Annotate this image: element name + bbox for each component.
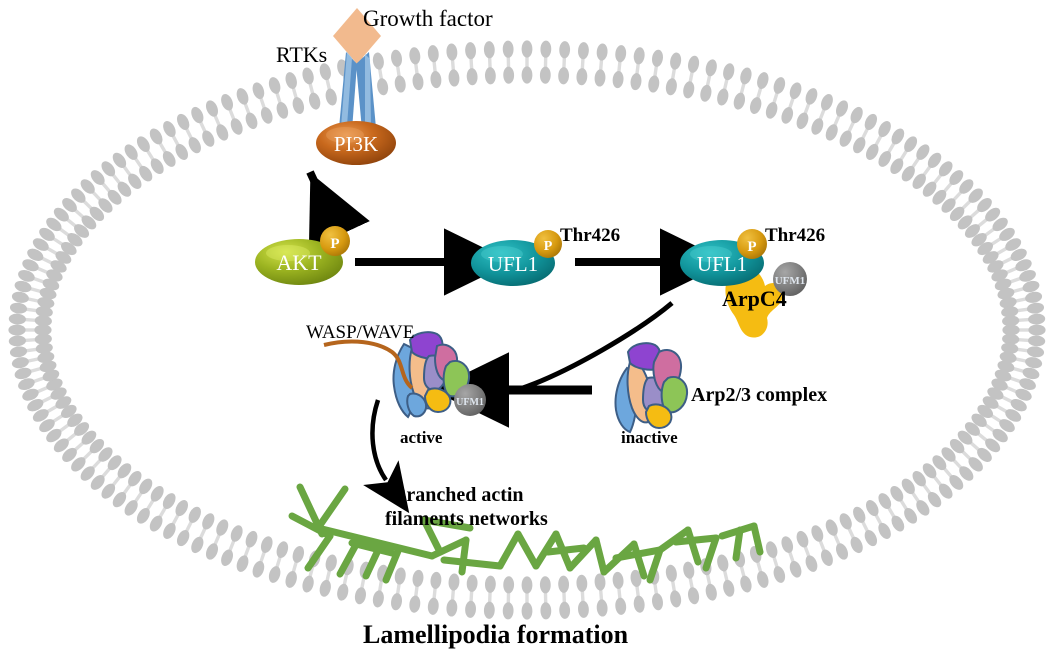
arrow-active-to-actin-network [372,400,386,480]
akt-label: AKT [276,250,322,275]
rtks-label: RTKs [276,43,327,68]
growth-factor-label: Growth factor [363,6,493,32]
ufm1-badge-active: UFM1 [454,384,486,416]
akt-phospho-badge: P [320,226,350,256]
wasp-wave-label: WASP/WAVE [306,322,414,343]
phospho-p-label: P [747,239,756,255]
arpc4-label: ArpC4 [722,287,787,312]
thr426-right-label: Thr426 [765,225,825,246]
active-state-label: active [400,428,442,447]
thr426-left-label: Thr426 [560,225,620,246]
pi3k-label: PI3K [334,132,378,156]
ufl1-left-phospho-badge: P [534,230,562,258]
pi3k-node: PI3K [316,121,396,165]
inactive-state-label: inactive [621,428,678,447]
phospho-p-label: P [544,239,553,254]
arp23-complex-label: Arp2/3 complex [691,384,827,406]
ufl1-right-label: UFL1 [697,252,747,276]
arp23-inactive-complex [615,343,687,432]
branched-actin-label-line1: Branched actin [393,484,524,506]
plasma-membrane-bilayer [8,40,1045,619]
ufl1-left-label: UFL1 [488,252,538,276]
ufl1-right-phospho-badge: P [737,229,767,259]
arp23-active-complex [324,332,469,417]
branched-actin-label-line2: filaments networks [385,508,548,530]
arrow-pi3k-to-akt [310,172,336,228]
pathway-diagram: PI3K AKT P UFL1 P UFL1 [0,0,1053,659]
figure-title: Lamellipodia formation [363,620,628,649]
diagram-canvas: PI3K AKT P UFL1 P UFL1 [0,0,1053,659]
phospho-p-label: P [330,236,339,252]
ufm1-badge-label: UFM1 [456,397,484,408]
